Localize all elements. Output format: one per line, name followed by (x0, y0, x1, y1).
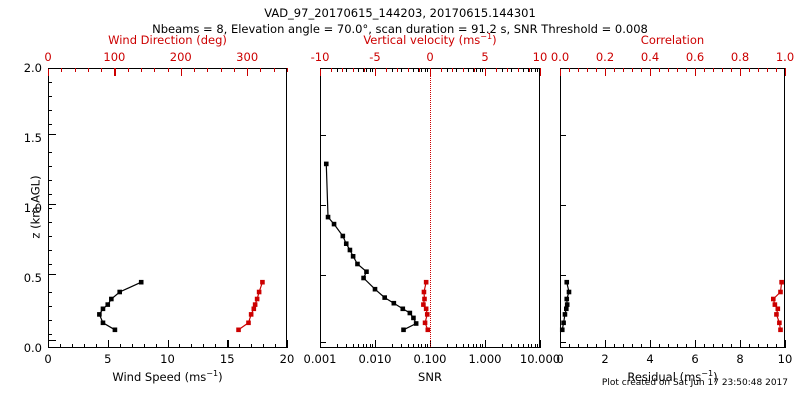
data-point (564, 307, 569, 312)
data-point (773, 302, 778, 307)
data-layer-panel-3 (0, 0, 800, 400)
data-point (560, 328, 565, 333)
series-correlation (771, 280, 784, 332)
data-point (778, 290, 783, 295)
data-point (564, 280, 569, 285)
data-point (771, 297, 776, 302)
data-point (561, 321, 566, 326)
series-residual (560, 280, 571, 332)
data-point (778, 328, 783, 333)
data-point (779, 280, 784, 285)
data-point (565, 302, 570, 307)
data-point (776, 307, 781, 312)
data-point (564, 297, 569, 302)
data-point (563, 312, 568, 317)
data-point (777, 321, 782, 326)
data-point (774, 312, 779, 317)
data-point (567, 290, 572, 295)
